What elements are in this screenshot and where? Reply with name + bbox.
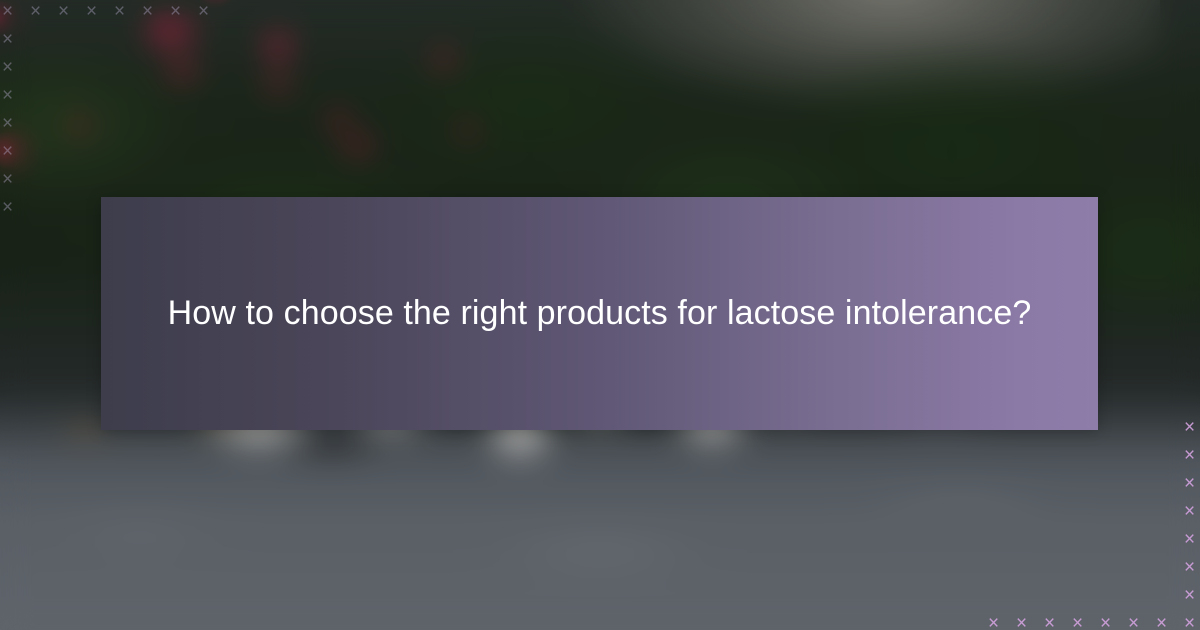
article-banner: ××××××××××××××× ××××××××××××××× How to c… xyxy=(0,0,1200,630)
banner-title: How to choose the right products for lac… xyxy=(101,287,1098,340)
title-card: How to choose the right products for lac… xyxy=(101,197,1098,430)
